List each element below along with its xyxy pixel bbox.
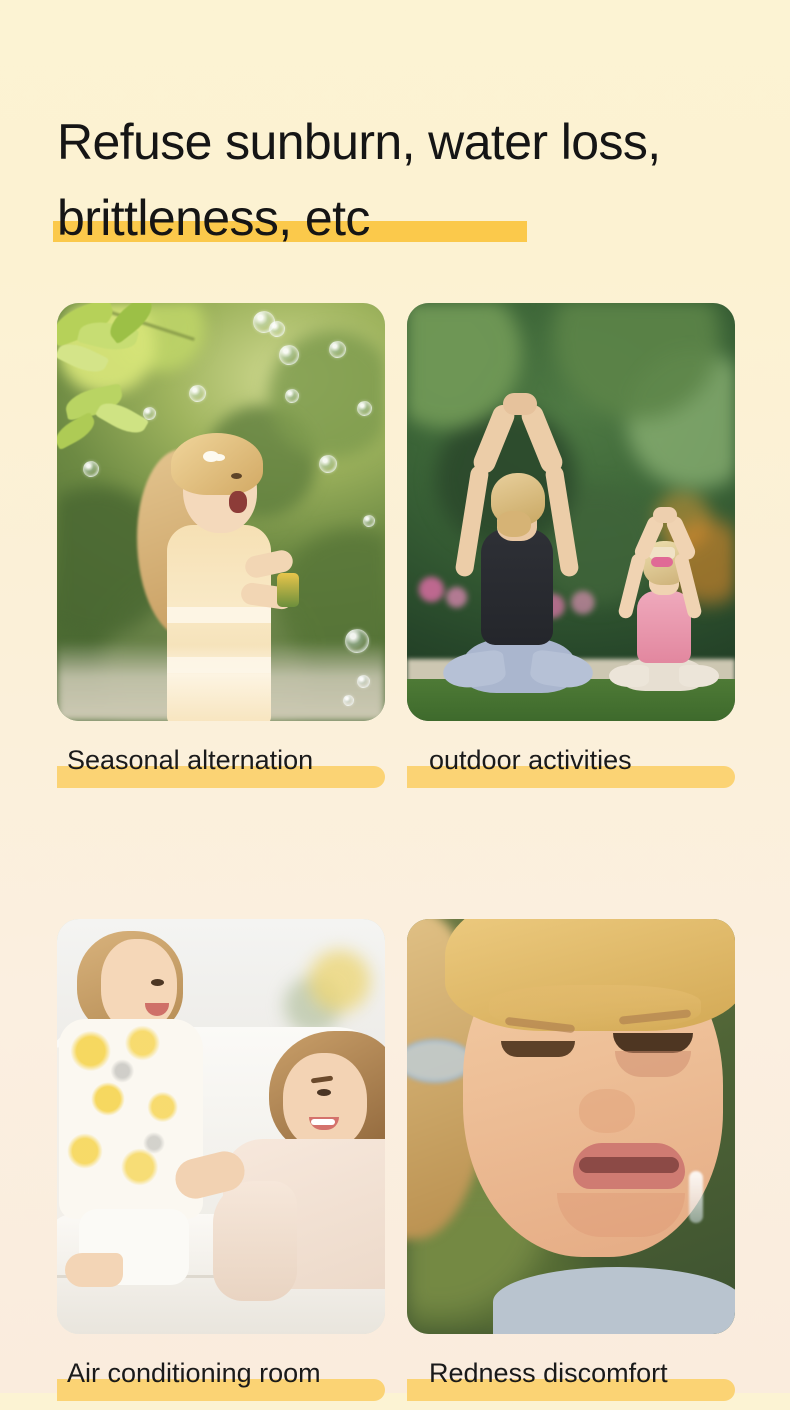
page-title-block: Refuse sunburn, water loss, brittleness,… — [57, 104, 757, 256]
caption-label: Air conditioning room — [67, 1354, 321, 1392]
indoor-sofa-scene — [57, 919, 385, 1334]
adult-figure — [445, 363, 593, 693]
photo-outdoor-activities — [407, 303, 735, 721]
feature-row-2: Air conditioning room — [57, 919, 735, 1410]
caption-seasonal-alternation-wrap: Seasonal alternation — [57, 733, 385, 797]
caption-label: Redness discomfort — [429, 1354, 668, 1392]
photo-air-conditioning-room — [57, 919, 385, 1334]
feature-card-seasonal-alternation[interactable]: Seasonal alternation — [57, 303, 385, 797]
caption-label: Seasonal alternation — [67, 741, 313, 779]
caption-label: outdoor activities — [429, 741, 632, 779]
feature-card-redness-discomfort[interactable]: Redness discomfort — [407, 919, 735, 1410]
page-title: Refuse sunburn, water loss, brittleness,… — [57, 104, 757, 256]
toddler-face — [453, 919, 735, 1323]
caption-outdoor-activities-wrap: outdoor activities — [407, 733, 735, 797]
caption-air-conditioning-room-wrap: Air conditioning room — [57, 1346, 385, 1410]
garden-bubbles-scene — [57, 303, 385, 721]
feature-card-outdoor-activities[interactable]: outdoor activities — [407, 303, 735, 797]
photo-seasonal-alternation — [57, 303, 385, 721]
crying-child-scene — [407, 919, 735, 1334]
mother-figure — [223, 1031, 385, 1331]
caption-redness-discomfort-wrap: Redness discomfort — [407, 1346, 735, 1410]
feature-grid: Seasonal alternation — [57, 303, 735, 1410]
child-figure — [615, 491, 709, 691]
photo-redness-discomfort — [407, 919, 735, 1334]
outdoor-yoga-scene — [407, 303, 735, 721]
feature-card-air-conditioning-room[interactable]: Air conditioning room — [57, 919, 385, 1410]
child-figure — [63, 923, 223, 1303]
feature-row-1: Seasonal alternation — [57, 303, 735, 797]
